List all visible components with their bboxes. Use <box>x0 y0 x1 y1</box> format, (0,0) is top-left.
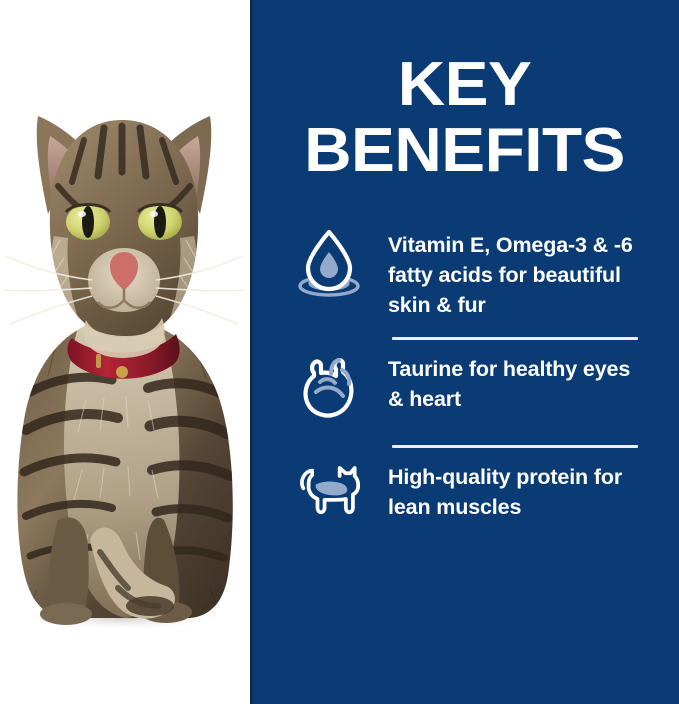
benefit-item-lean-muscles: High-quality protein for lean muscles <box>250 460 679 540</box>
benefit-item-eyes-heart: Taurine for healthy eyes & heart <box>250 352 679 432</box>
page-title-line1: KEY <box>250 52 679 118</box>
benefit-list: Vitamin E, Omega-3 & -6 fatty acids for … <box>250 228 679 540</box>
cat-photo-panel <box>0 0 250 704</box>
key-benefits-panel: KEY BENEFITS Vitamin E, Omega-3 & -6 fat… <box>0 0 679 704</box>
water-droplet-icon <box>298 228 360 300</box>
benefit-text-eyes-heart: Taurine for healthy eyes & heart <box>388 352 648 414</box>
benefit-divider-1 <box>250 324 679 352</box>
page-title: KEY BENEFITS <box>250 52 679 184</box>
benefit-text-skin-fur: Vitamin E, Omega-3 & -6 fatty acids for … <box>388 228 648 320</box>
cat-photo <box>0 0 250 704</box>
page-title-line2: BENEFITS <box>250 118 679 184</box>
benefits-panel: KEY BENEFITS Vitamin E, Omega-3 & -6 fat… <box>250 0 679 704</box>
anatomical-heart-icon <box>298 352 360 424</box>
benefit-item-skin-fur: Vitamin E, Omega-3 & -6 fatty acids for … <box>250 228 679 324</box>
benefit-divider-2 <box>250 432 679 460</box>
cat-silhouette-icon <box>298 460 360 532</box>
benefit-text-lean-muscles: High-quality protein for lean muscles <box>388 460 648 522</box>
cat-head <box>4 116 244 358</box>
